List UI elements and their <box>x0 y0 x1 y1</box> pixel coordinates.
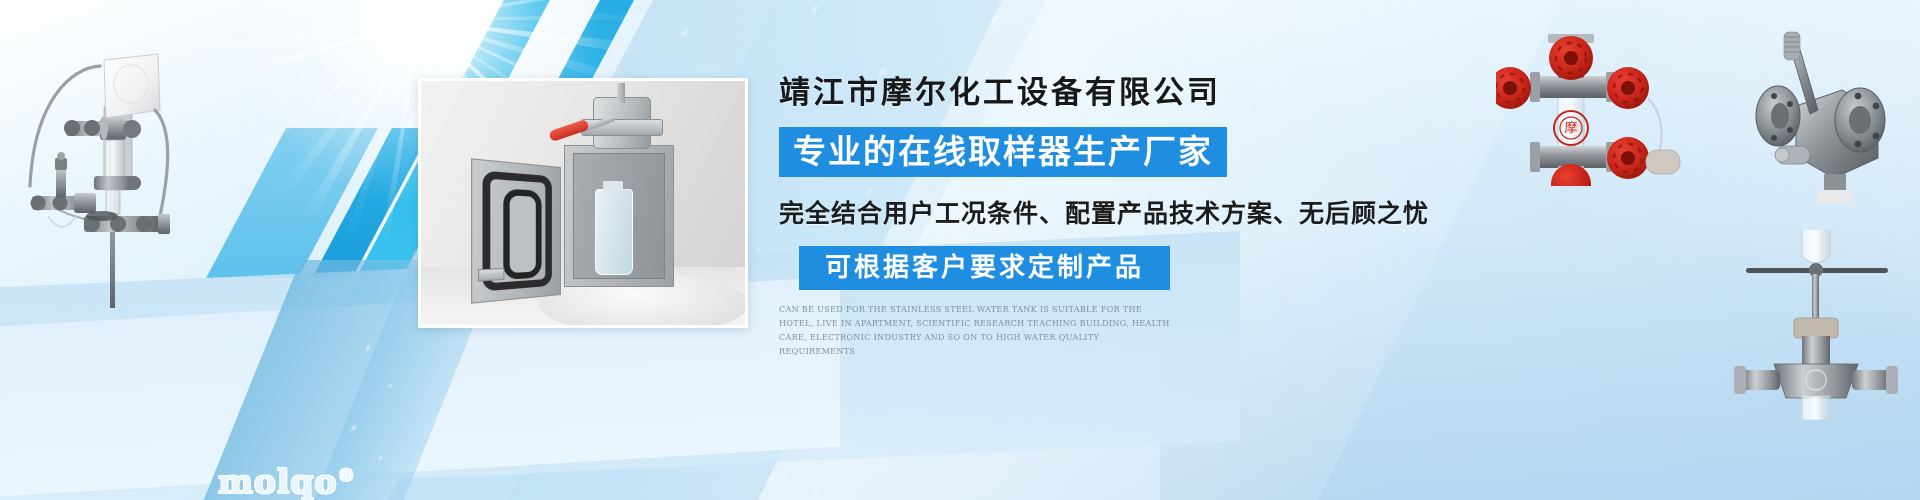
photo-bottle-cap <box>603 181 623 191</box>
handwheel-gate-valve-image <box>1726 230 1920 420</box>
photo-valve-stem <box>617 83 625 103</box>
company-title: 靖江市摩尔化工设备有限公司 <box>779 76 1419 112</box>
svg-text:摩: 摩 <box>1564 120 1577 135</box>
headline-secondary: 可根据客户要求定制产品 <box>799 246 1170 290</box>
photo-cabinet-door <box>471 158 561 304</box>
red-handwheel-cross-valve-image: 摩 <box>1496 18 1706 186</box>
photo-door-latch <box>478 268 504 282</box>
headline-primary: 专业的在线取样器生产厂家 <box>779 127 1227 178</box>
registered-trademark-icon: ® <box>338 466 356 486</box>
promotional-banner: 摩 <box>0 0 1920 500</box>
banner-text-block: 靖江市摩尔化工设备有限公司 专业的在线取样器生产厂家 完全结合用户工况条件、配置… <box>779 76 1419 359</box>
flanged-lever-valve-image <box>1738 18 1920 204</box>
subheadline: 完全结合用户工况条件、配置产品技术方案、无后顾之忧 <box>779 194 1419 230</box>
photo-sample-bottle <box>595 189 633 275</box>
product-photo-sampling-cabinet <box>418 78 748 328</box>
background-diagonal-bar-3 <box>206 128 378 278</box>
online-sampler-assembly-image <box>0 18 180 308</box>
brand-logo-text: molqo <box>218 462 338 500</box>
background-diagonal-bar-4 <box>312 128 432 278</box>
brand-logo: molqo® <box>218 462 356 500</box>
english-description: CAN BE USED FOR THE STAINLESS STEEL WATE… <box>779 303 1176 359</box>
photo-door-window <box>503 189 541 280</box>
